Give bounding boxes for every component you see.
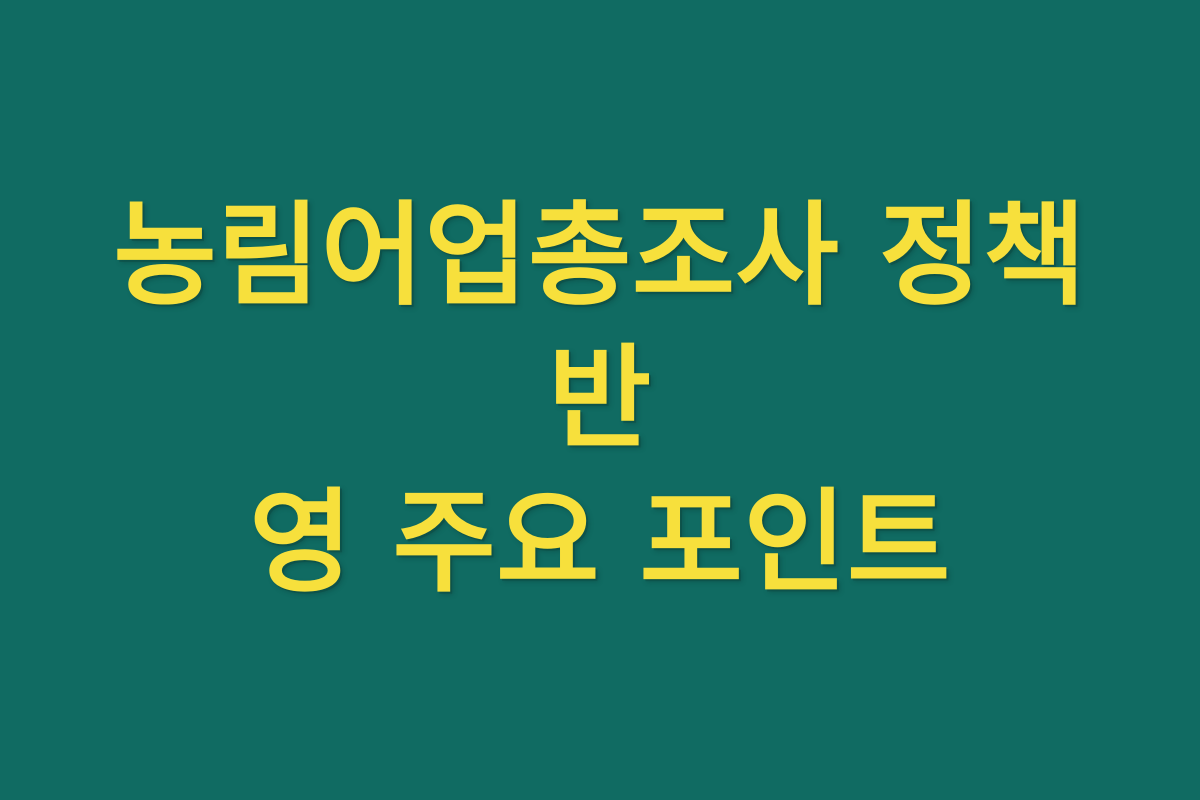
page-title-line-1: 농림어업총조사 정책 반 (60, 185, 1140, 472)
page-title: 농림어업총조사 정책 반 영 주요 포인트 (0, 185, 1200, 615)
page-title-line-2: 영 주요 포인트 (60, 472, 1140, 615)
title-banner: 농림어업총조사 정책 반 영 주요 포인트 (0, 0, 1200, 800)
